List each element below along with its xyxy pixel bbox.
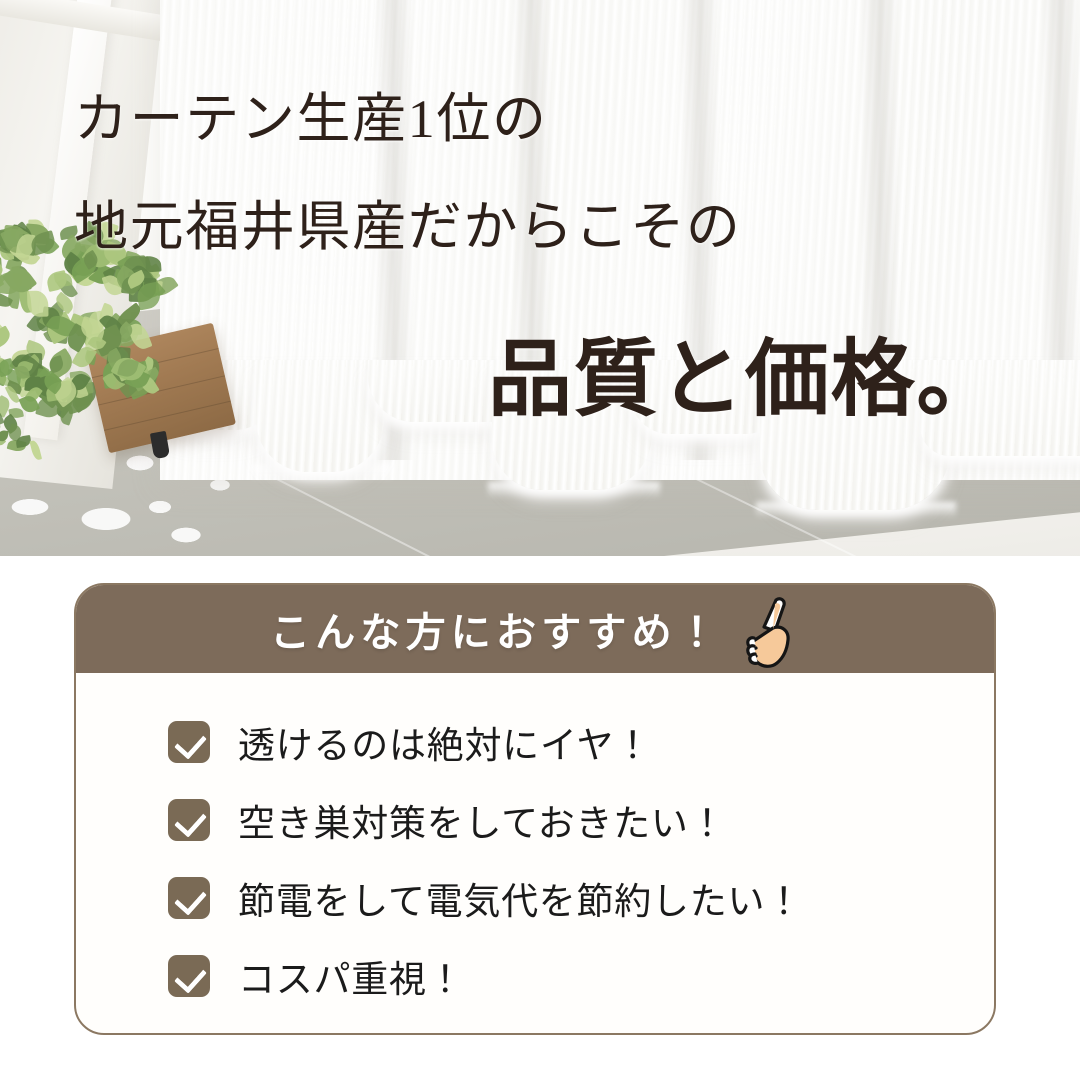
headline-line-3: 品質と価格。 <box>488 312 1002 433</box>
check-icon <box>168 799 210 841</box>
recommend-card: こんな方におすすめ！ 透けるのは絶対にイヤ！ 空き巣対策をしておきたい！ <box>74 583 996 1035</box>
recommend-card-title: こんな方におすすめ！ <box>270 600 722 658</box>
check-icon <box>168 955 210 997</box>
hero-photo: カーテン生産1位の 地元福井県産だからこその 品質と価格。 <box>0 0 1080 556</box>
recommend-card-header: こんな方におすすめ！ <box>76 585 994 673</box>
list-item-label: 透けるのは絶対にイヤ！ <box>238 715 652 769</box>
list-item-label: 節電をして電気代を節約したい！ <box>238 871 803 925</box>
recommend-card-body: 透けるのは絶対にイヤ！ 空き巣対策をしておきたい！ 節電をして電気代を節約したい… <box>76 673 994 1015</box>
headline-line-1: カーテン生産1位の <box>74 74 548 153</box>
pointing-up-hand-icon <box>742 594 800 670</box>
ivy-leaf <box>0 326 14 352</box>
list-item: 空き巣対策をしておきたい！ <box>168 781 994 859</box>
ivy-leaf <box>27 291 49 317</box>
list-item: コスパ重視！ <box>168 937 994 1015</box>
check-icon <box>168 877 210 919</box>
list-item: 節電をして電気代を節約したい！ <box>168 859 994 937</box>
list-item-label: 空き巣対策をしておきたい！ <box>238 793 726 847</box>
list-item-label: コスパ重視！ <box>238 949 464 1003</box>
check-icon <box>168 721 210 763</box>
headline-line-2: 地元福井県産だからこその <box>74 182 741 261</box>
list-item: 透けるのは絶対にイヤ！ <box>168 703 994 781</box>
hem-piece <box>256 360 384 472</box>
